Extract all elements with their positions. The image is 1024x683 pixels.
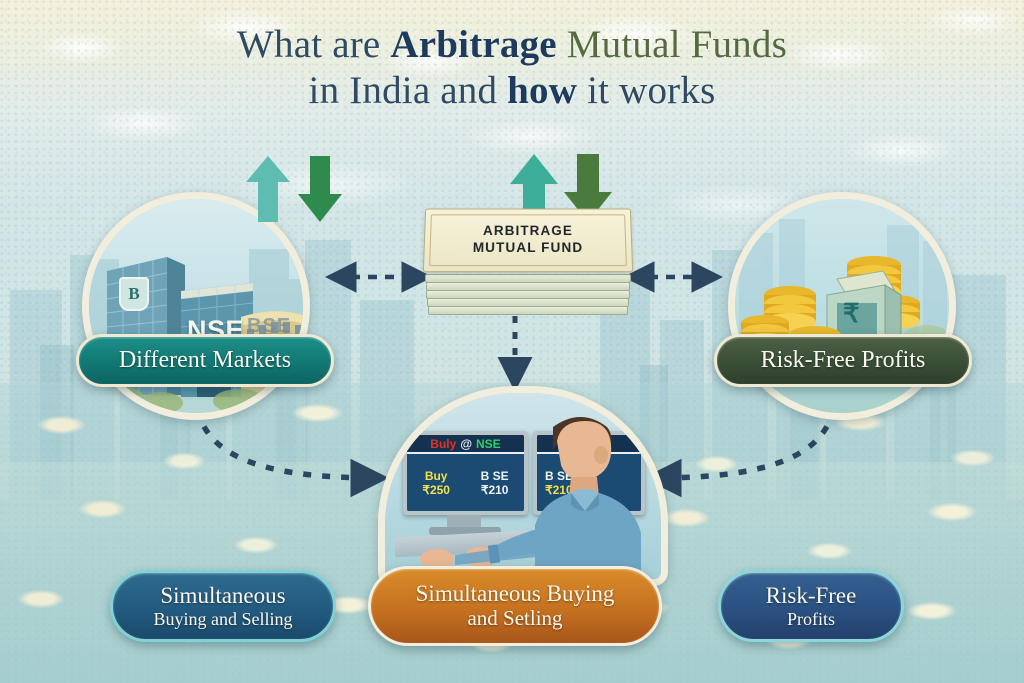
down-arrow-icon xyxy=(298,156,342,222)
trader-person xyxy=(385,393,661,579)
simultaneous-buying-and-setling-pill[interactable]: Simultaneous Buying and Setling xyxy=(368,566,662,646)
infographic-canvas: What are Arbitrage Mutual Funds in India… xyxy=(0,0,1024,683)
bse-logo-badge: B xyxy=(119,277,149,311)
up-arrow-icon xyxy=(246,156,290,222)
trader-circle[interactable]: Buly @ NSE Buy ₹250 B SE ₹210 xyxy=(378,386,668,586)
pill-2-small: and Setling xyxy=(467,607,562,631)
risk-free-profits-label-text: Risk-Free Profits xyxy=(761,347,926,374)
arrows-left-circle xyxy=(240,152,350,224)
pill-3-big: Risk-Free xyxy=(766,583,857,609)
different-markets-label-pill[interactable]: Different Markets xyxy=(76,334,334,387)
pill-1-small: Buying and Selling xyxy=(154,609,293,629)
rupee-symbol-icon: ₹ xyxy=(843,299,860,329)
stack-title-line2: MUTUAL FUND xyxy=(473,240,584,257)
trader-scene: Buly @ NSE Buy ₹250 B SE ₹210 xyxy=(385,393,661,579)
risk-free-profits-pill[interactable]: Risk-Free Profits xyxy=(718,570,904,642)
pill-3-small: Profits xyxy=(787,609,835,629)
simultaneous-buying-and-selling-pill[interactable]: Simultaneous Buying and Selling xyxy=(110,570,336,642)
different-markets-label-text: Different Markets xyxy=(119,347,291,374)
risk-free-profits-label-pill[interactable]: Risk-Free Profits xyxy=(714,334,972,387)
stack-title-line1: ARBITRAGE xyxy=(483,223,573,240)
pill-2-big: Simultaneous Buying xyxy=(416,581,615,607)
pill-1-big: Simultaneous xyxy=(160,583,285,609)
stack-top-document: ARBITRAGE MUTUAL FUND xyxy=(423,209,633,273)
arbitrage-mutual-fund-stack[interactable]: ARBITRAGE MUTUAL FUND xyxy=(424,208,632,316)
